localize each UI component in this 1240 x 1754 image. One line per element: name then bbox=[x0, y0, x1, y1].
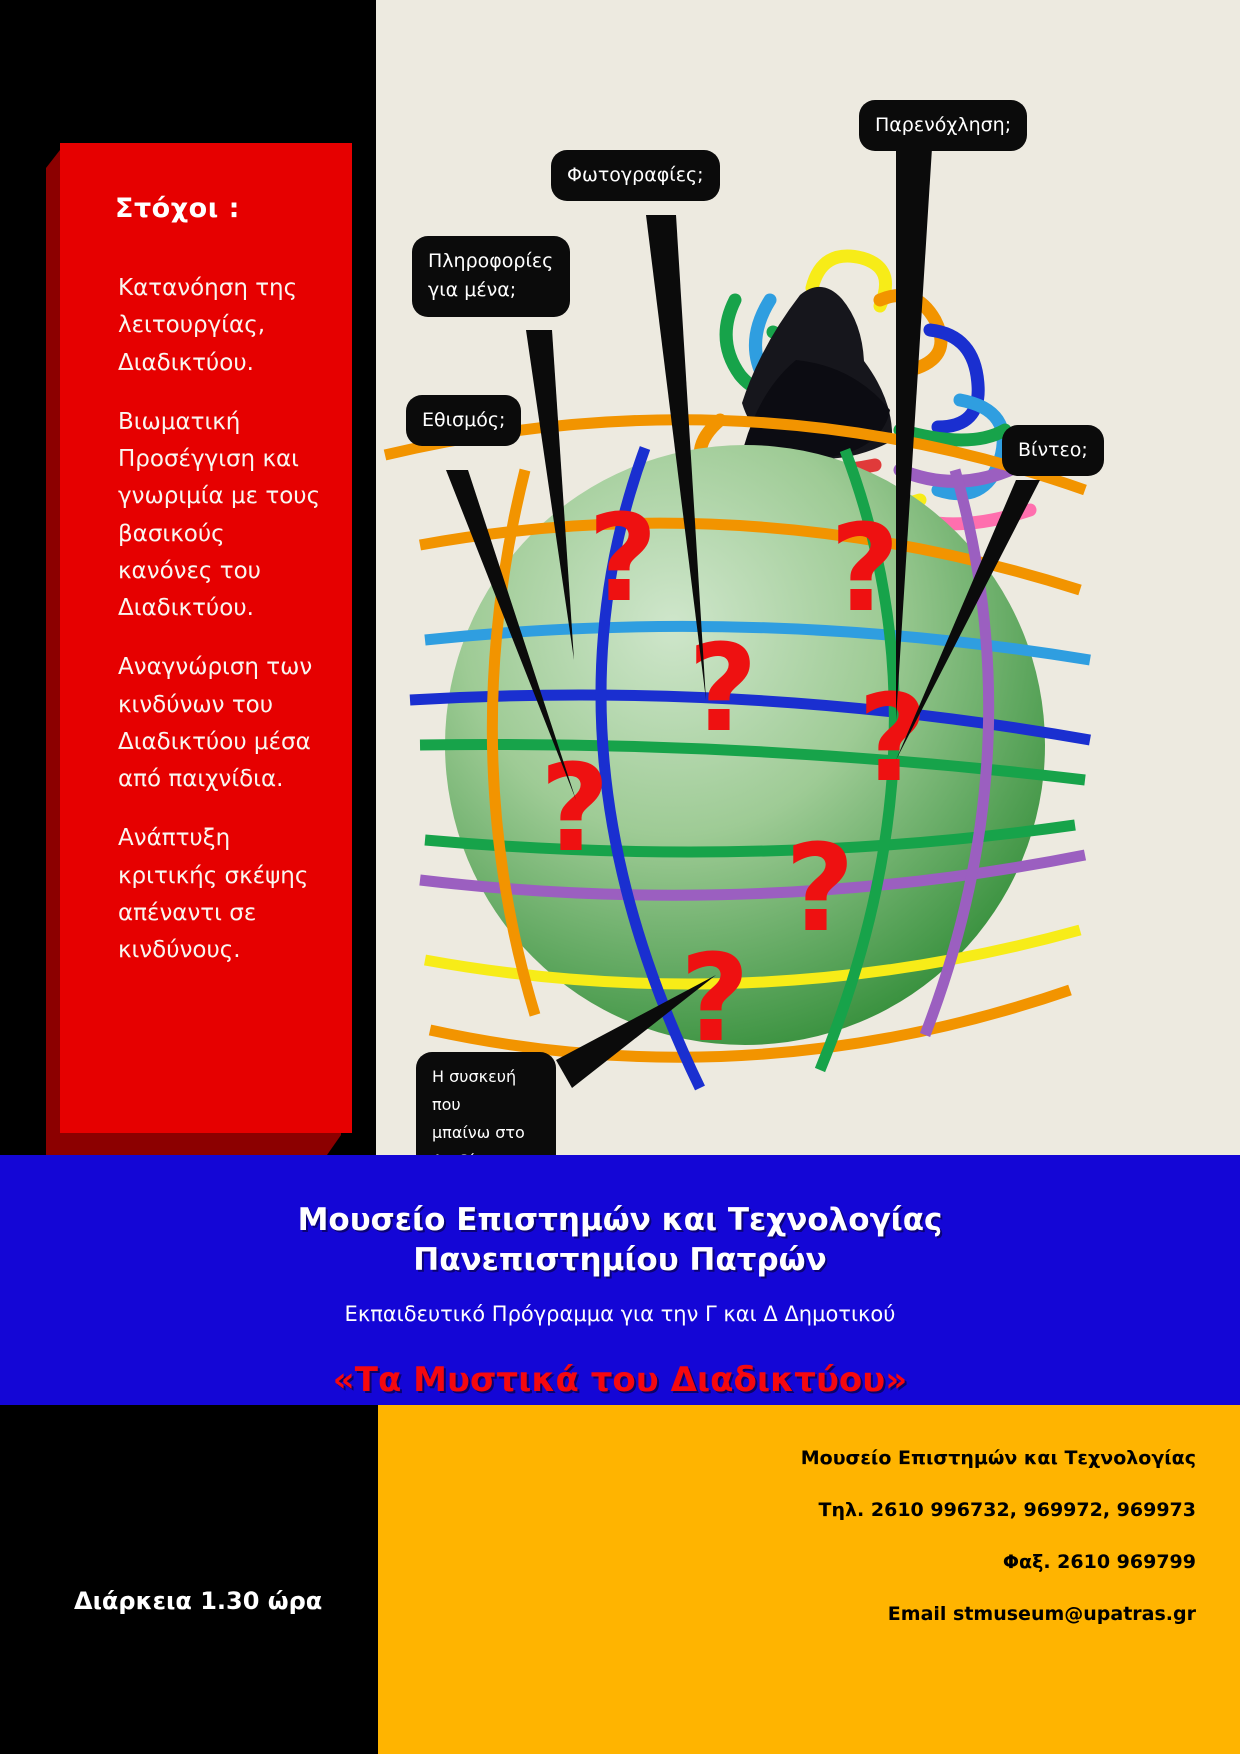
museum-title: Μουσείο Επιστημών και Τεχνολογίας Πανεπι… bbox=[0, 1155, 1240, 1280]
tail-photos bbox=[646, 215, 706, 700]
bubble-photos[interactable]: Φωτογραφίες; bbox=[551, 150, 720, 201]
objective-item: Ανάπτυξη κριτικής σκέψης απέναντι σε κιν… bbox=[118, 820, 322, 969]
bubble-tails bbox=[376, 0, 1240, 1155]
duration-strip: Διάρκεια 1.30 ώρα bbox=[0, 1405, 378, 1754]
objective-item: Βιωματική Προσέγγιση και γνωριμία με του… bbox=[118, 404, 322, 628]
duration-label: Διάρκεια 1.30 ώρα bbox=[74, 1587, 322, 1615]
objective-item: Κατανόηση της λειτουργίας, Διαδικτύου. bbox=[118, 270, 322, 382]
program-subtitle: Εκπαιδευτικό Πρόγραμμα για την Γ και Δ Δ… bbox=[0, 1302, 1240, 1326]
tail-harassment bbox=[896, 148, 932, 720]
bubble-device[interactable]: Η συσκευή που μπαίνω στο Διαδίκτυο; bbox=[416, 1052, 556, 1155]
bubble-information[interactable]: Πληροφορίες για μένα; bbox=[412, 236, 570, 317]
museum-title-line1: Μουσείο Επιστημών και Τεχνολογίας bbox=[298, 1202, 943, 1238]
program-title: «Τα Μυστικά του Διαδικτύου» bbox=[0, 1360, 1240, 1400]
bubble-harassment[interactable]: Παρενόχληση; bbox=[859, 100, 1027, 151]
tail-device bbox=[556, 975, 716, 1088]
bubble-addiction[interactable]: Εθισμός; bbox=[406, 395, 521, 446]
contact-email[interactable]: Email stmuseum@upatras.gr bbox=[378, 1605, 1196, 1624]
footer-blue-band: Μουσείο Επιστημών και Τεχνολογίας Πανεπι… bbox=[0, 1155, 1240, 1405]
contact-phone: Τηλ. 2610 996732, 969972, 969973 bbox=[378, 1501, 1196, 1520]
objectives-heading: Στόχοι : bbox=[115, 193, 352, 224]
tail-video bbox=[896, 480, 1040, 760]
objective-item: Αναγνώριση των κινδύνων του Διαδικτύου μ… bbox=[118, 649, 322, 798]
objectives-list: Κατανόηση της λειτουργίας, Διαδικτύου. Β… bbox=[118, 270, 322, 969]
bubble-video[interactable]: Βίντεο; bbox=[1002, 425, 1104, 476]
contact-strip: Μουσείο Επιστημών και Τεχνολογίας Τηλ. 2… bbox=[378, 1405, 1240, 1754]
artwork-panel: ? ? ? ? ? ? ? Πληροφορίες για μένα; Εθισ… bbox=[376, 0, 1240, 1155]
contact-fax: Φαξ. 2610 969799 bbox=[378, 1553, 1196, 1572]
contact-name: Μουσείο Επιστημών και Τεχνολογίας bbox=[378, 1449, 1196, 1468]
poster-root: ? ? ? ? ? ? ? Πληροφορίες για μένα; Εθισ… bbox=[0, 0, 1240, 1754]
objectives-box: Στόχοι : Κατανόηση της λειτουργίας, Διαδ… bbox=[60, 143, 352, 1133]
museum-title-line2: Πανεπιστημίου Πατρών bbox=[413, 1242, 826, 1278]
tail-information bbox=[526, 330, 574, 660]
